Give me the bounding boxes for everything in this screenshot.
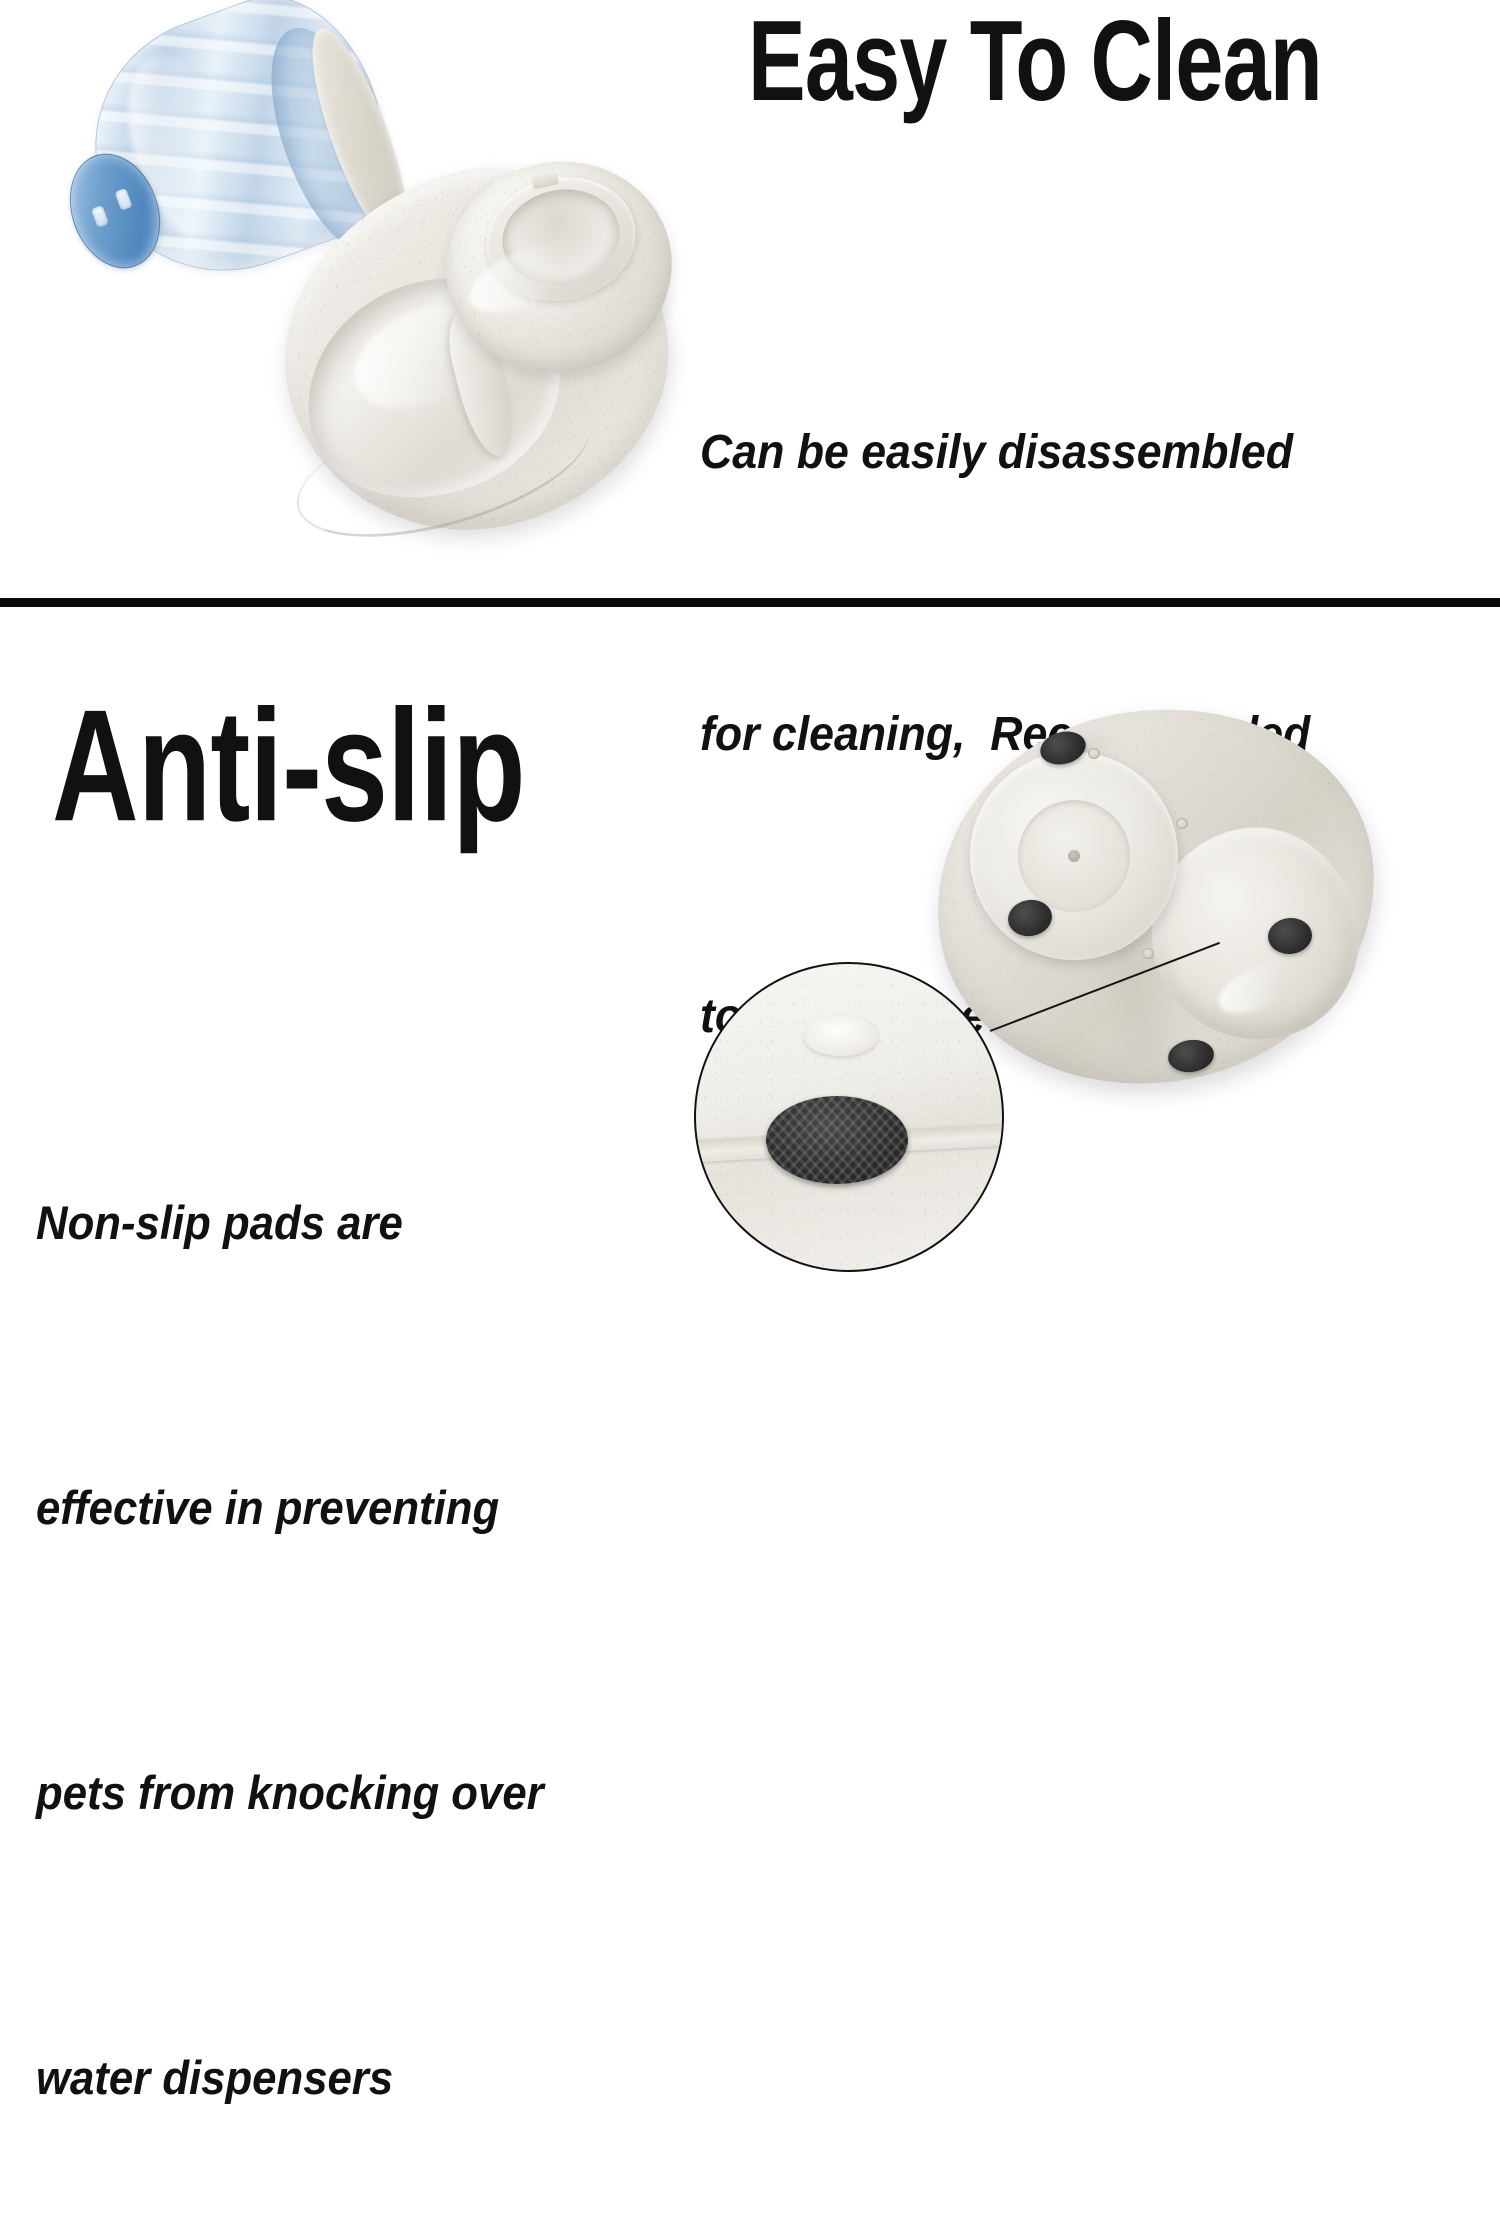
body-line: pets from knocking over <box>36 1745 544 1840</box>
body-line: Non-slip pads are <box>36 1175 544 1270</box>
body-anti-slip: Non-slip pads are effective in preventin… <box>36 985 544 2220</box>
screw-boss-icon <box>1088 748 1100 759</box>
callout-circle <box>694 962 1004 1272</box>
callout-non-slip-pad-closeup <box>766 1096 908 1184</box>
heading-anti-slip: Anti-slip <box>52 692 525 838</box>
section-divider <box>0 598 1500 607</box>
cap-slot-right <box>114 188 132 211</box>
magnifier-callout <box>694 962 1012 1280</box>
body-line: effective in preventing <box>36 1460 544 1555</box>
screw-boss-icon <box>1176 818 1188 829</box>
heading-easy-to-clean: Easy To Clean <box>748 8 1322 113</box>
callout-molding-bump <box>804 1016 878 1056</box>
screw-boss-icon <box>1142 948 1154 959</box>
bowl-underside-center-nub <box>1068 850 1080 862</box>
body-line: water dispensers <box>36 2030 544 2125</box>
pet-bowl-image <box>280 160 672 540</box>
body-line: Can be easily disassembled <box>700 406 1310 500</box>
section-easy-to-clean: Easy To Clean Can be easily disassembled… <box>0 0 1500 598</box>
cap-slot-left <box>91 205 109 228</box>
